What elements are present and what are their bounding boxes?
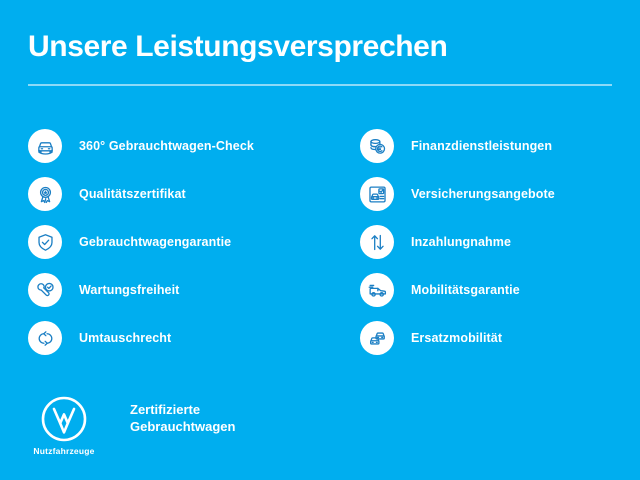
promise-label: Inzahlungnahme: [411, 235, 511, 249]
footer-branding: Nutzfahrzeuge Zertifizierte Gebrauchtwag…: [28, 395, 235, 456]
coins-euro-icon: [360, 129, 394, 163]
award-rosette-icon: [28, 177, 62, 211]
two-cars-icon: [360, 321, 394, 355]
promise-label: Umtauschrecht: [79, 331, 171, 345]
wrench-check-icon: [28, 273, 62, 307]
shield-check-icon: [28, 225, 62, 259]
promise-label: 360° Gebrauchtwagen-Check: [79, 139, 254, 153]
promise-item-replacement-mobility[interactable]: Ersatzmobilität: [360, 314, 640, 362]
promise-label: Qualitätszertifikat: [79, 187, 186, 201]
promise-label: Finanzdienstleistungen: [411, 139, 552, 153]
promise-item-mobility-guarantee[interactable]: Mobilitätsgarantie: [360, 266, 640, 314]
promise-item-maintenance-free[interactable]: Wartungsfreiheit: [28, 266, 308, 314]
exchange-arrows-icon: [28, 321, 62, 355]
title-divider: [28, 84, 612, 86]
footer-claim: Zertifizierte Gebrauchtwagen: [130, 401, 235, 435]
footer-claim-line2: Gebrauchtwagen: [130, 418, 235, 435]
tow-van-icon: [360, 273, 394, 307]
promise-item-exchange-right[interactable]: Umtauschrecht: [28, 314, 308, 362]
promise-label: Ersatzmobilität: [411, 331, 502, 345]
promises-column-right: Finanzdienstleistungen Versicherungsange…: [360, 122, 640, 362]
promise-item-quality-certificate[interactable]: Qualitätszertifikat: [28, 170, 308, 218]
promise-label: Versicherungsangebote: [411, 187, 555, 201]
slide-canvas: Unsere Leistungsversprechen 360° Gebrauc…: [0, 0, 640, 480]
volkswagen-logo-block: Nutzfahrzeuge: [28, 395, 100, 456]
promise-item-360-check[interactable]: 360° Gebrauchtwagen-Check: [28, 122, 308, 170]
promise-item-warranty[interactable]: Gebrauchtwagengarantie: [28, 218, 308, 266]
car-document-check-icon: [360, 177, 394, 211]
promise-item-financial-services[interactable]: Finanzdienstleistungen: [360, 122, 640, 170]
footer-claim-line1: Zertifizierte: [130, 401, 235, 418]
promise-label: Mobilitätsgarantie: [411, 283, 520, 297]
volkswagen-wordmark: Nutzfahrzeuge: [33, 446, 94, 456]
promise-item-insurance-offers[interactable]: Versicherungsangebote: [360, 170, 640, 218]
promises-column-left: 360° Gebrauchtwagen-Check Qualitätszerti…: [28, 122, 308, 362]
page-title: Unsere Leistungsversprechen: [28, 30, 447, 64]
promise-item-trade-in[interactable]: Inzahlungnahme: [360, 218, 640, 266]
car-360-check-icon: [28, 129, 62, 163]
up-down-arrows-icon: [360, 225, 394, 259]
volkswagen-logo: [40, 395, 88, 443]
promise-label: Gebrauchtwagengarantie: [79, 235, 231, 249]
promise-label: Wartungsfreiheit: [79, 283, 179, 297]
